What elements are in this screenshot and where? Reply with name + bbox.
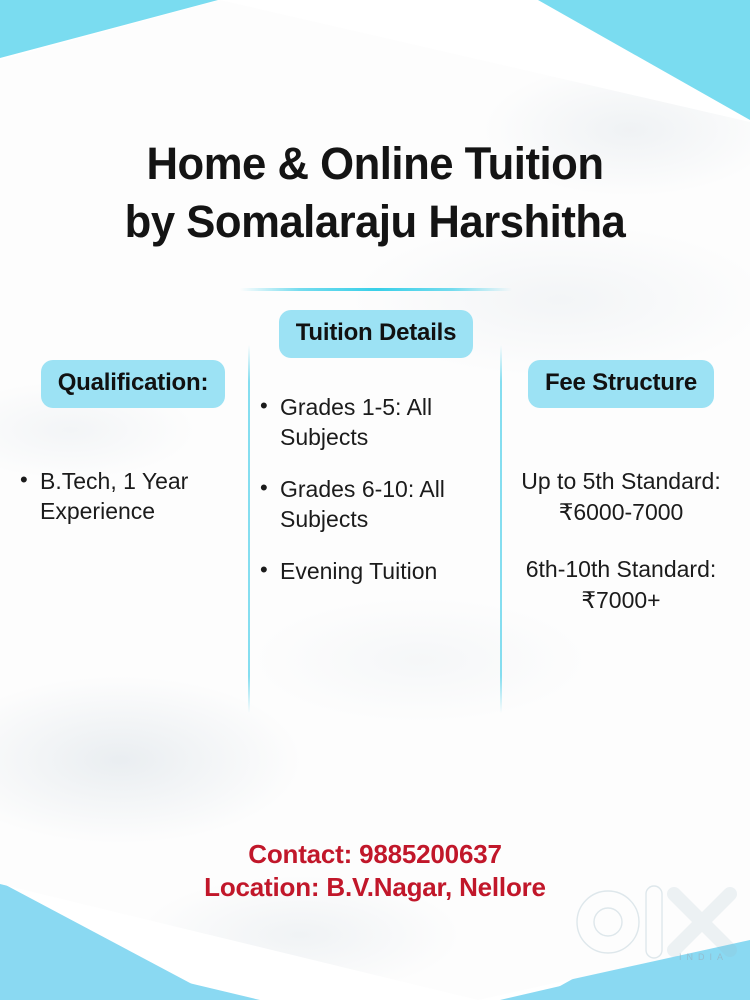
fee-entry: 6th-10th Standard: ₹7000+: [506, 554, 736, 616]
poster-canvas: Home & Online Tuition by Somalaraju Hars…: [0, 0, 750, 1000]
contact-footer: Contact: 9885200637 Location: B.V.Nagar,…: [0, 838, 750, 904]
qualification-badge: Qualification:: [41, 360, 226, 408]
tuition-details-badge-wrap: Tuition Details: [258, 310, 494, 358]
column-divider-right: [500, 345, 502, 713]
fee-entry-amount: ₹7000+: [506, 585, 736, 616]
qualification-column: Qualification: B.Tech, 1 Year Experience: [18, 360, 242, 548]
fee-structure-badge-wrap: Fee Structure: [506, 360, 736, 408]
tuition-details-column: Tuition Details Grades 1-5: All Subjects…: [258, 360, 494, 608]
list-item: Grades 6-10: All Subjects: [258, 474, 494, 534]
fee-entry-label: Up to 5th Standard:: [506, 466, 736, 497]
title-line-2: by Somalaraju Harshitha: [11, 193, 739, 251]
list-item: Grades 1-5: All Subjects: [258, 392, 494, 452]
column-divider-left: [248, 345, 250, 713]
qualification-list: B.Tech, 1 Year Experience: [18, 466, 242, 526]
poster-content: Home & Online Tuition by Somalaraju Hars…: [0, 0, 750, 1000]
tuition-details-badge: Tuition Details: [279, 310, 474, 358]
fee-structure-column: Fee Structure Up to 5th Standard: ₹6000-…: [506, 360, 736, 642]
page-title: Home & Online Tuition by Somalaraju Hars…: [0, 135, 750, 251]
tuition-details-list: Grades 1-5: All Subjects Grades 6-10: Al…: [258, 392, 494, 586]
fee-structure-badge: Fee Structure: [528, 360, 714, 408]
fee-entry-amount: ₹6000-7000: [506, 497, 736, 528]
fee-entries: Up to 5th Standard: ₹6000-7000 6th-10th …: [506, 466, 736, 616]
contact-phone[interactable]: Contact: 9885200637: [0, 838, 750, 871]
list-item: B.Tech, 1 Year Experience: [18, 466, 242, 526]
qualification-badge-wrap: Qualification:: [18, 360, 242, 408]
fee-entry: Up to 5th Standard: ₹6000-7000: [506, 466, 736, 528]
title-divider: [240, 288, 512, 291]
title-line-1: Home & Online Tuition: [11, 135, 739, 193]
olx-watermark-label: INDIA: [679, 952, 728, 962]
list-item: Evening Tuition: [258, 556, 494, 586]
fee-entry-label: 6th-10th Standard:: [506, 554, 736, 585]
contact-location: Location: B.V.Nagar, Nellore: [0, 871, 750, 904]
